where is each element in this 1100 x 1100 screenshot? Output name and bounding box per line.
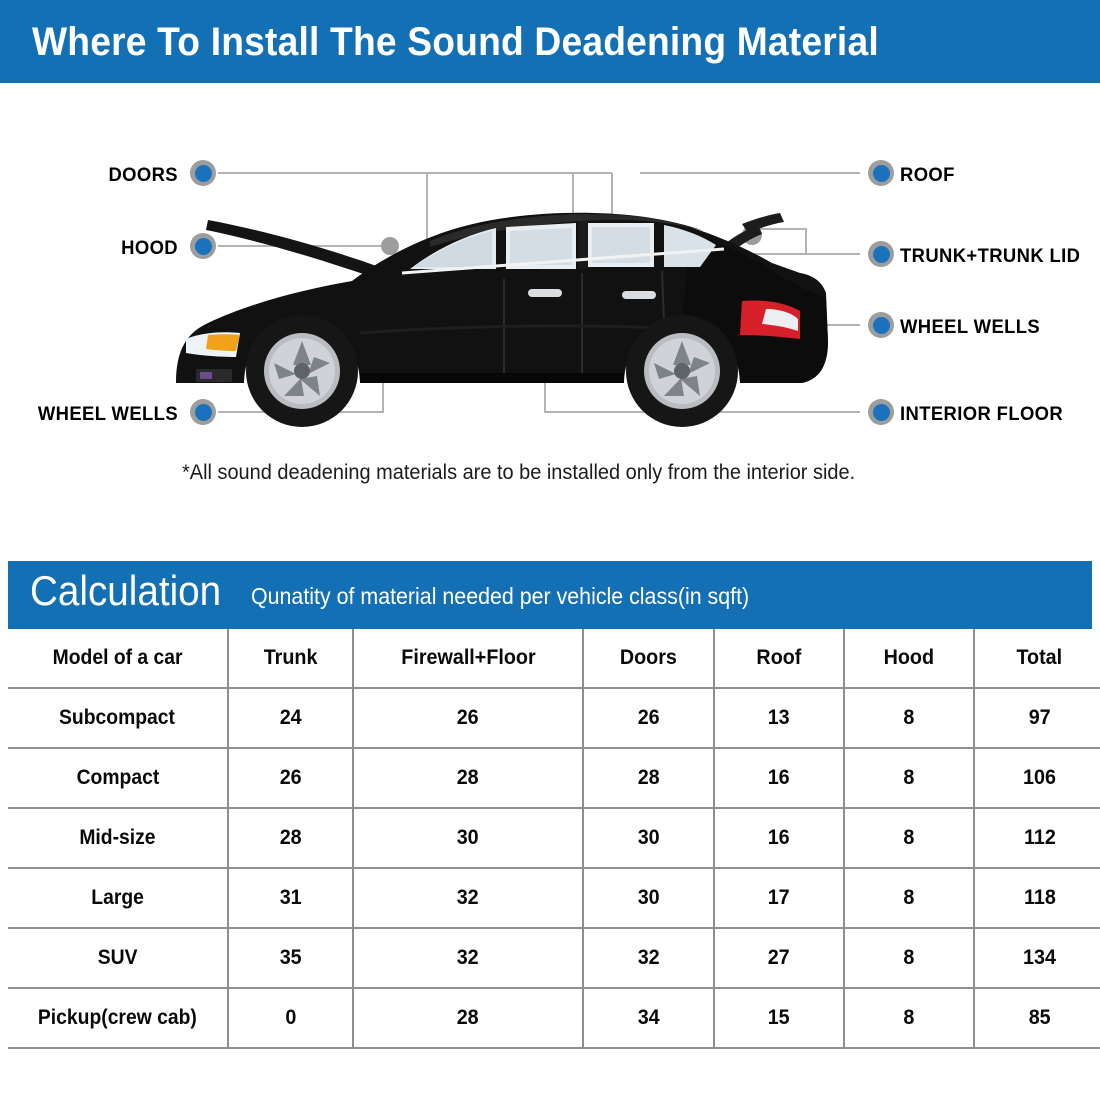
callout-label-roof: ROOF — [900, 165, 955, 187]
callout-label-doors: DOORS — [5, 165, 178, 187]
cell-model: Subcompact — [8, 688, 228, 748]
cell-firewall-floor: 28 — [353, 988, 583, 1048]
cell-trunk: 35 — [228, 928, 353, 988]
table-row: Mid-size 28 30 30 16 8 112 — [8, 808, 1100, 868]
callout-dot-icon-wheel-wells-right[interactable] — [868, 312, 894, 338]
cell-hood: 8 — [844, 928, 974, 988]
callout-label-wheel-wells-left: WHEEL WELLS — [5, 404, 178, 426]
callout-label-wheel-wells-right: WHEEL WELLS — [900, 317, 1040, 339]
cell-doors: 32 — [583, 928, 714, 988]
cell-firewall-floor: 28 — [353, 748, 583, 808]
page-title: Where To Install The Sound Deadening Mat… — [32, 20, 879, 65]
callout-label-interior-floor: INTERIOR FLOOR — [900, 404, 1063, 426]
cell-total: 97 — [974, 688, 1100, 748]
callout-label-hood: HOOD — [5, 238, 178, 260]
cell-trunk: 0 — [228, 988, 353, 1048]
callout-dot-icon-doors[interactable] — [190, 160, 216, 186]
cell-roof: 16 — [714, 808, 844, 868]
calculation-subtitle: Qunatity of material needed per vehicle … — [251, 583, 749, 610]
table-row: Pickup(crew cab) 0 28 34 15 8 85 — [8, 988, 1100, 1048]
callout-dot-icon-wheel-wells-left[interactable] — [190, 399, 216, 425]
table-header-row: Model of a car Trunk Firewall+Floor Door… — [8, 629, 1100, 688]
column-header-hood: Hood — [844, 629, 974, 688]
cell-roof: 17 — [714, 868, 844, 928]
cell-trunk: 28 — [228, 808, 353, 868]
front-wheel — [246, 315, 358, 427]
cell-roof: 27 — [714, 928, 844, 988]
cell-doors: 26 — [583, 688, 714, 748]
callout-dot-icon-trunk[interactable] — [868, 241, 894, 267]
material-quantity-table: Model of a car Trunk Firewall+Floor Door… — [8, 629, 1100, 1049]
cell-total: 85 — [974, 988, 1100, 1048]
cell-hood: 8 — [844, 868, 974, 928]
table-row: Subcompact 24 26 26 13 8 97 — [8, 688, 1100, 748]
cell-firewall-floor: 32 — [353, 868, 583, 928]
callout-dot-icon-interior-floor[interactable] — [868, 399, 894, 425]
cell-model: Compact — [8, 748, 228, 808]
cell-trunk: 24 — [228, 688, 353, 748]
cell-model: SUV — [8, 928, 228, 988]
cell-doors: 30 — [583, 808, 714, 868]
cell-total: 118 — [974, 868, 1100, 928]
cell-total: 112 — [974, 808, 1100, 868]
cell-hood: 8 — [844, 808, 974, 868]
column-header-total: Total — [974, 629, 1100, 688]
callout-dot-icon-hood[interactable] — [190, 233, 216, 259]
cell-model: Pickup(crew cab) — [8, 988, 228, 1048]
cell-roof: 16 — [714, 748, 844, 808]
column-header-trunk: Trunk — [228, 629, 353, 688]
cell-roof: 13 — [714, 688, 844, 748]
cell-firewall-floor: 26 — [353, 688, 583, 748]
callout-dot-icon-roof[interactable] — [868, 160, 894, 186]
diagram-footnote: *All sound deadening materials are to be… — [182, 461, 855, 485]
cell-hood: 8 — [844, 748, 974, 808]
cell-roof: 15 — [714, 988, 844, 1048]
cell-trunk: 26 — [228, 748, 353, 808]
calculation-banner: Calculation Qunatity of material needed … — [8, 561, 1092, 629]
cell-model: Large — [8, 868, 228, 928]
cell-model: Mid-size — [8, 808, 228, 868]
rear-wheel — [626, 315, 738, 427]
column-header-doors: Doors — [583, 629, 714, 688]
page-header-bar: Where To Install The Sound Deadening Mat… — [0, 0, 1100, 83]
table-row: Large 31 32 30 17 8 118 — [8, 868, 1100, 928]
cell-hood: 8 — [844, 688, 974, 748]
cell-doors: 34 — [583, 988, 714, 1048]
callout-label-trunk: TRUNK+TRUNK LID — [900, 246, 1080, 268]
installation-diagram: DOORS HOOD WHEEL WELLS ROOF TRUNK+TRUNK … — [0, 83, 1100, 553]
column-header-roof: Roof — [714, 629, 844, 688]
column-header-model: Model of a car — [8, 629, 228, 688]
cell-total: 134 — [974, 928, 1100, 988]
table-row: SUV 35 32 32 27 8 134 — [8, 928, 1100, 988]
cell-doors: 28 — [583, 748, 714, 808]
cell-trunk: 31 — [228, 868, 353, 928]
cell-firewall-floor: 30 — [353, 808, 583, 868]
calculation-title: Calculation — [30, 567, 221, 615]
cell-firewall-floor: 32 — [353, 928, 583, 988]
cell-total: 106 — [974, 748, 1100, 808]
column-header-firewall-floor: Firewall+Floor — [353, 629, 583, 688]
table-row: Compact 26 28 28 16 8 106 — [8, 748, 1100, 808]
cell-hood: 8 — [844, 988, 974, 1048]
cell-doors: 30 — [583, 868, 714, 928]
